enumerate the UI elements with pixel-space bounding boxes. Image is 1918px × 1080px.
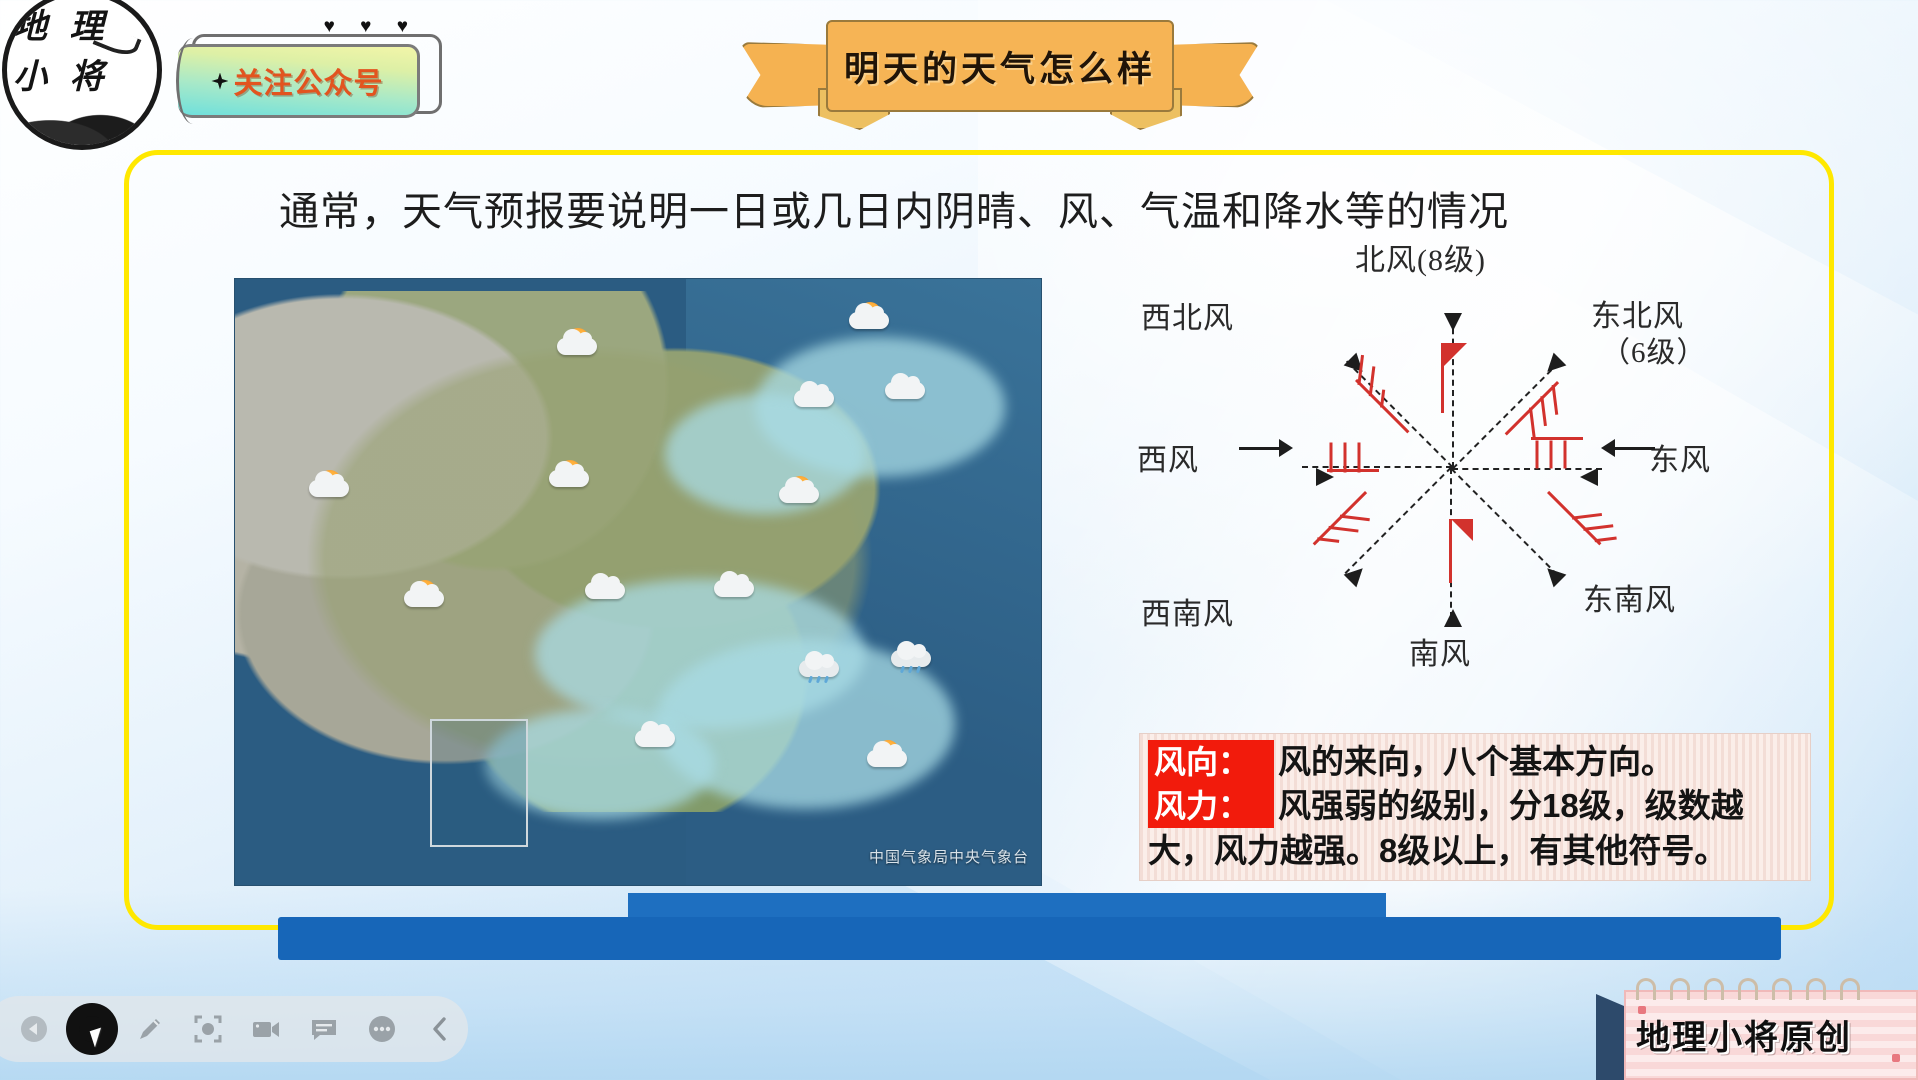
notepad-dot-2 [1892, 1054, 1900, 1062]
content-panel: 通常，天气预报要说明一日或几日内阴晴、风、气温和降水等的情况 [124, 150, 1834, 930]
map-weather-icon-cloudy-ne [845, 301, 895, 337]
wind-label-north: 北风(8级) [1355, 235, 1486, 279]
follow-account-banner[interactable]: ♥ ♥ ♥ 关注公众号 [178, 22, 448, 122]
pen-button[interactable] [124, 1003, 176, 1055]
follow-banner-curl [176, 38, 210, 124]
logo-text: 地 理 小 将 [13, 3, 141, 113]
wind-label-east: 东风 [1649, 435, 1711, 479]
video-camera-icon [250, 1014, 282, 1044]
title-ribbon: 明天的天气怎么样 [740, 14, 1260, 132]
definition-row-force: 风力： 风强弱的级别，分18级，级数越 [1148, 784, 1800, 828]
map-weather-icon-sunny-c [545, 459, 595, 495]
definition-tag-direction: 风向： [1148, 740, 1274, 784]
map-weather-icon-rain-1 [795, 649, 845, 685]
map-weather-icon-sunny-cloud [553, 327, 603, 363]
map-weather-icon-sunny-w [305, 469, 355, 505]
bottom-toolbar[interactable] [0, 996, 468, 1062]
watermark-text: 地理小将原创 [1636, 1010, 1852, 1059]
follow-label: 关注公众号 [233, 60, 383, 102]
comment-button[interactable] [298, 1003, 350, 1055]
wind-label-south: 南风 [1409, 629, 1471, 673]
follow-banner-card[interactable]: 关注公众号 [178, 44, 420, 118]
progress-bar-primary[interactable] [278, 917, 1781, 960]
pointer-button[interactable] [66, 1003, 118, 1055]
chat-bubble-icon [309, 1014, 339, 1044]
map-weather-icon-cloud-1 [790, 379, 840, 415]
focus-target-icon [193, 1014, 223, 1044]
map-inset-box [430, 719, 528, 847]
wind-barb-southwest [1308, 491, 1404, 587]
map-weather-icon-cloud-5 [631, 719, 681, 755]
wind-barb-south-flag [1449, 519, 1479, 583]
wind-label-northwest: 西北风 [1141, 293, 1234, 337]
arrowhead-se [1541, 562, 1566, 587]
weather-map-image: 中国气象局中央气象台 [234, 278, 1042, 886]
wind-rose-diagram: 北风(8级) 西北风 东北风 （6级） 西风 东风 西南风 南风 东南风 [1159, 233, 1759, 703]
map-weather-icon-cloud-4 [710, 569, 760, 605]
map-weather-icon-rain-2 [887, 639, 937, 675]
chevron-left-icon [427, 1014, 453, 1044]
logo-mountain-icon [21, 99, 153, 150]
page-title: 明天的天气怎么样 [844, 41, 1156, 92]
arrowhead-s [1444, 609, 1462, 627]
west-pointer-arrow-icon [1279, 439, 1293, 457]
collapse-button[interactable] [414, 1003, 466, 1055]
pencil-icon [135, 1014, 165, 1044]
wind-label-northeast-level: （6级） [1601, 329, 1707, 371]
wind-definition-box: 风向： 风的来向，八个基本方向。 风力： 风强弱的级别，分18级，级数越 大，风… [1139, 733, 1811, 881]
map-attribution: 中国气象局中央气象台 [869, 846, 1029, 867]
wind-label-southwest: 西南风 [1141, 589, 1234, 633]
brand-logo-stamp: 地 理 小 将 [2, 0, 162, 150]
map-weather-icon-cloud-3 [581, 571, 631, 607]
wind-barb-northwest [1355, 341, 1451, 437]
lead-paragraph: 通常，天气预报要说明一日或几日内阴晴、风、气温和降水等的情况 [279, 179, 1759, 237]
ribbon-band: 明天的天气怎么样 [826, 20, 1174, 112]
wind-label-southeast: 东南风 [1583, 575, 1676, 619]
definition-tag-force: 风力： [1148, 784, 1274, 828]
map-weather-icon-sunny-ne2 [775, 475, 825, 511]
west-pointer-line [1239, 447, 1283, 450]
notepad-rings [1636, 978, 1908, 1000]
logo-text-line2: 小 将 [13, 53, 141, 103]
back-button[interactable] [8, 1003, 60, 1055]
arrowhead-n [1444, 313, 1462, 331]
watermark-notepad: 地理小将原创 [1608, 982, 1918, 1080]
wind-label-west: 西风 [1137, 435, 1199, 479]
focus-button[interactable] [182, 1003, 234, 1055]
map-weather-icon-sunny-sw [400, 579, 450, 615]
definition-text-direction: 风的来向，八个基本方向。 [1274, 740, 1674, 784]
more-button[interactable] [356, 1003, 408, 1055]
sparkle-icon [211, 73, 228, 90]
more-dots-icon [367, 1014, 397, 1044]
map-weather-icon-cloud-2 [881, 371, 931, 407]
wind-barb-west [1327, 433, 1383, 477]
map-weather-icon-sunny-s [863, 739, 913, 775]
definition-row-direction: 风向： 风的来向，八个基本方向。 [1148, 740, 1800, 784]
east-pointer-line [1611, 447, 1655, 450]
east-pointer-arrow-icon [1601, 439, 1615, 457]
record-button[interactable] [240, 1003, 292, 1055]
definition-text-force-continued: 大，风力越强。8级以上，有其他符号。 [1148, 828, 1800, 874]
definition-text-force: 风强弱的级别，分18级，级数越 [1274, 784, 1744, 828]
